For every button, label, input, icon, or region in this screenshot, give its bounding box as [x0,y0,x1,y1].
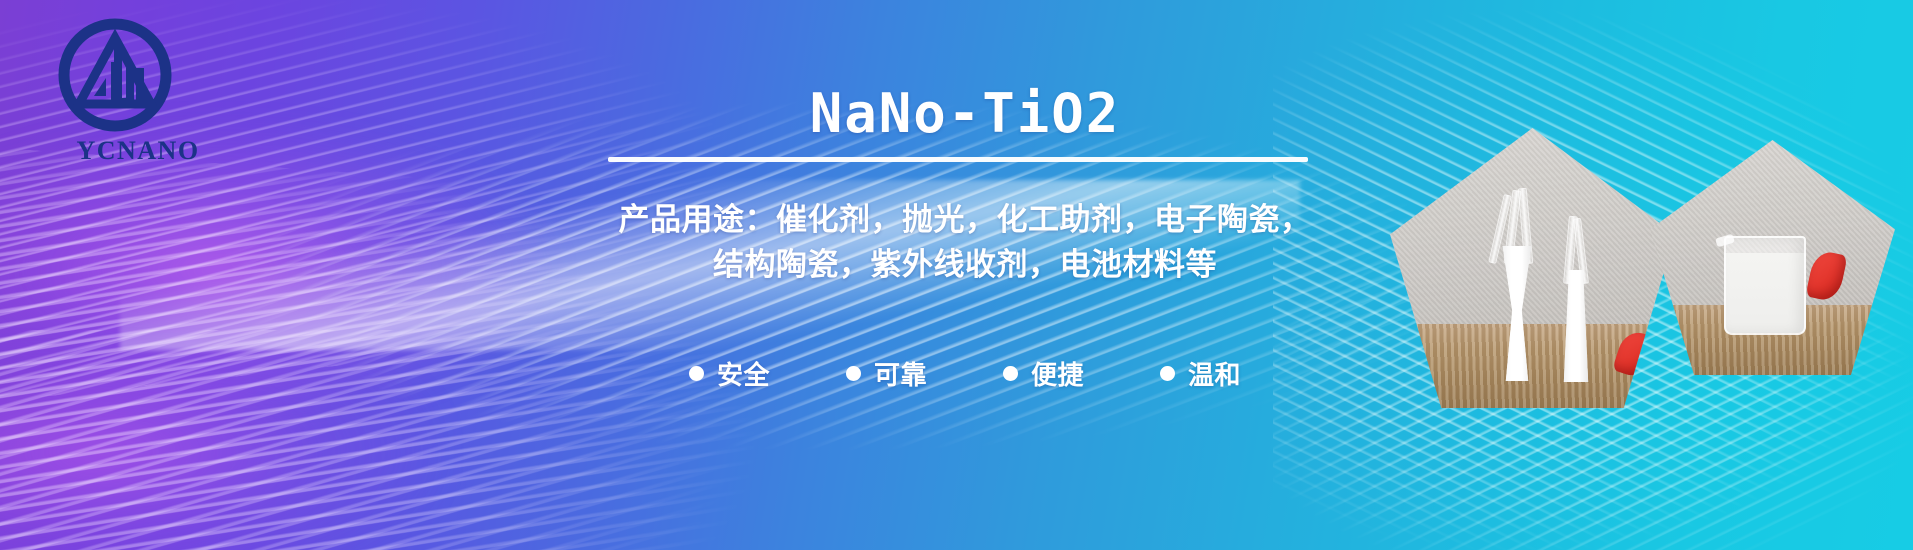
beaker-with-white-slurry [1724,236,1806,335]
product-banner: YCNANO NaNo-TiO2 产品用途：催化剂，抛光，化工助剂，电子陶瓷， … [0,0,1913,550]
feature-item-mild: 温和 [1160,355,1241,392]
product-photo-beaker [1650,140,1895,375]
ycnano-mountain-circle-logo [56,16,174,134]
page-title: NaNo-TiO2 [470,82,1460,145]
bullet-dot-icon [846,366,861,381]
banner-copy: NaNo-TiO2 产品用途：催化剂，抛光，化工助剂，电子陶瓷， 结构陶瓷，紫外… [470,0,1460,550]
feature-label: 安全 [717,355,770,392]
bullet-dot-icon [1003,366,1018,381]
usage-description: 产品用途：催化剂，抛光，化工助剂，电子陶瓷， 结构陶瓷，紫外线收剂，电池材料等 [480,198,1450,288]
usage-line-2: 结构陶瓷，紫外线收剂，电池材料等 [480,243,1450,288]
bullet-dot-icon [689,366,704,381]
feature-list: 安全 可靠 便捷 温和 [510,355,1420,392]
feature-label: 温和 [1188,355,1241,392]
feature-item-safe: 安全 [689,355,770,392]
brand-wordmark: YCNANO [48,136,228,166]
title-divider [608,157,1308,162]
brand-logo[interactable]: YCNANO [48,16,228,176]
usage-line-1: 产品用途：催化剂，抛光，化工助剂，电子陶瓷， [480,198,1450,243]
feature-label: 可靠 [874,355,927,392]
feature-item-reliable: 可靠 [846,355,927,392]
feature-item-convenient: 便捷 [1003,355,1084,392]
feature-label: 便捷 [1031,355,1084,392]
magenta-glow-lower [0,360,440,550]
bullet-dot-icon [1160,366,1175,381]
